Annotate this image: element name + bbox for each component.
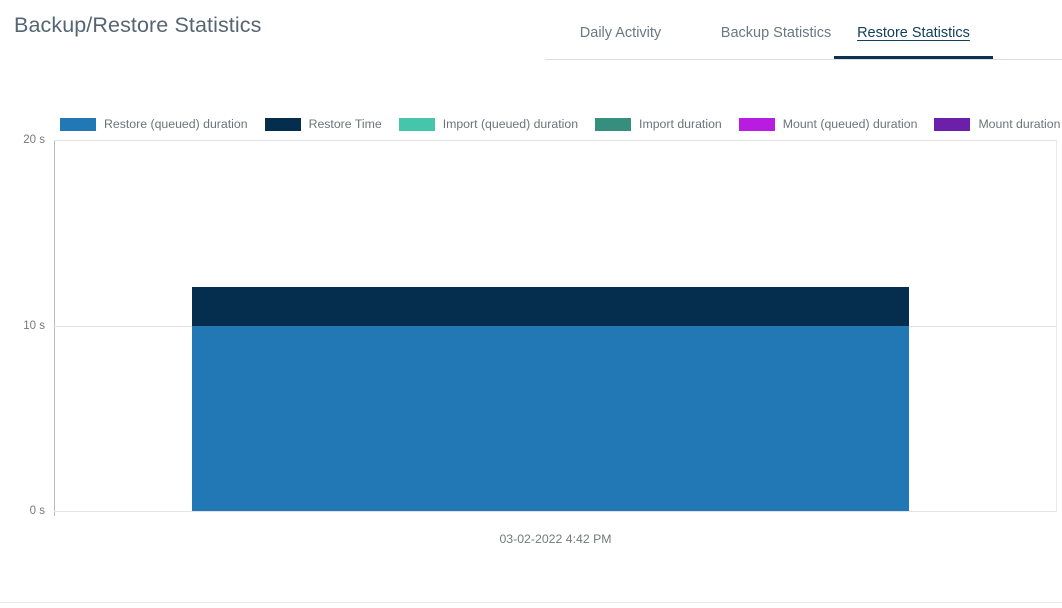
tab-label: Backup Statistics [721, 25, 831, 41]
plot-area: 20 s 10 s 0 s 03-02-2022 4:42 PM [54, 140, 1057, 511]
page-header: Backup/Restore Statistics Daily Activity… [0, 0, 1062, 60]
tab-bar: Daily Activity Backup Statistics Restore… [545, 0, 1062, 60]
legend-item-label: Restore Time [309, 117, 382, 131]
legend-item-label: Import duration [639, 117, 722, 131]
legend-item-label: Restore (queued) duration [104, 117, 248, 131]
tab-restore-statistics[interactable]: Restore Statistics [834, 0, 993, 59]
legend-item[interactable]: Import duration [595, 117, 722, 131]
y-axis-tick-label: 0 s [30, 505, 45, 517]
bar-stack[interactable] [192, 140, 909, 511]
legend-swatch-icon [399, 118, 435, 131]
legend-item[interactable]: Restore Time [265, 117, 382, 131]
x-axis-tick-label: 03-02-2022 4:42 PM [54, 532, 1057, 546]
legend-swatch-icon [934, 118, 970, 131]
page-bottom-divider [0, 602, 1062, 603]
chart-legend: Restore (queued) duration Restore Time I… [60, 117, 1062, 131]
legend-swatch-icon [265, 118, 301, 131]
legend-swatch-icon [60, 118, 96, 131]
legend-item-label: Mount duration [978, 117, 1060, 131]
legend-item-label: Mount (queued) duration [783, 117, 918, 131]
restore-statistics-chart: 20 s 10 s 0 s 03-02-2022 4:42 PM [0, 130, 1062, 550]
x-axis-line [54, 511, 1057, 512]
tab-daily-activity[interactable]: Daily Activity [555, 0, 686, 59]
y-axis-tick-label: 20 s [23, 134, 45, 146]
tab-label: Restore Statistics [857, 25, 970, 41]
legend-item[interactable]: Restore (queued) duration [60, 117, 248, 131]
tab-label: Daily Activity [580, 25, 661, 41]
legend-item[interactable]: Mount (queued) duration [739, 117, 918, 131]
page-title: Backup/Restore Statistics [14, 13, 261, 38]
legend-item-label: Import (queued) duration [443, 117, 578, 131]
bar-segment[interactable] [192, 287, 909, 325]
y-axis-tick-label: 10 s [23, 320, 45, 332]
tab-backup-statistics[interactable]: Backup Statistics [696, 0, 856, 59]
legend-item[interactable]: Import (queued) duration [399, 117, 578, 131]
legend-item[interactable]: Mount duration [934, 117, 1060, 131]
legend-swatch-icon [739, 118, 775, 131]
bar-segment[interactable] [192, 326, 909, 512]
legend-swatch-icon [595, 118, 631, 131]
